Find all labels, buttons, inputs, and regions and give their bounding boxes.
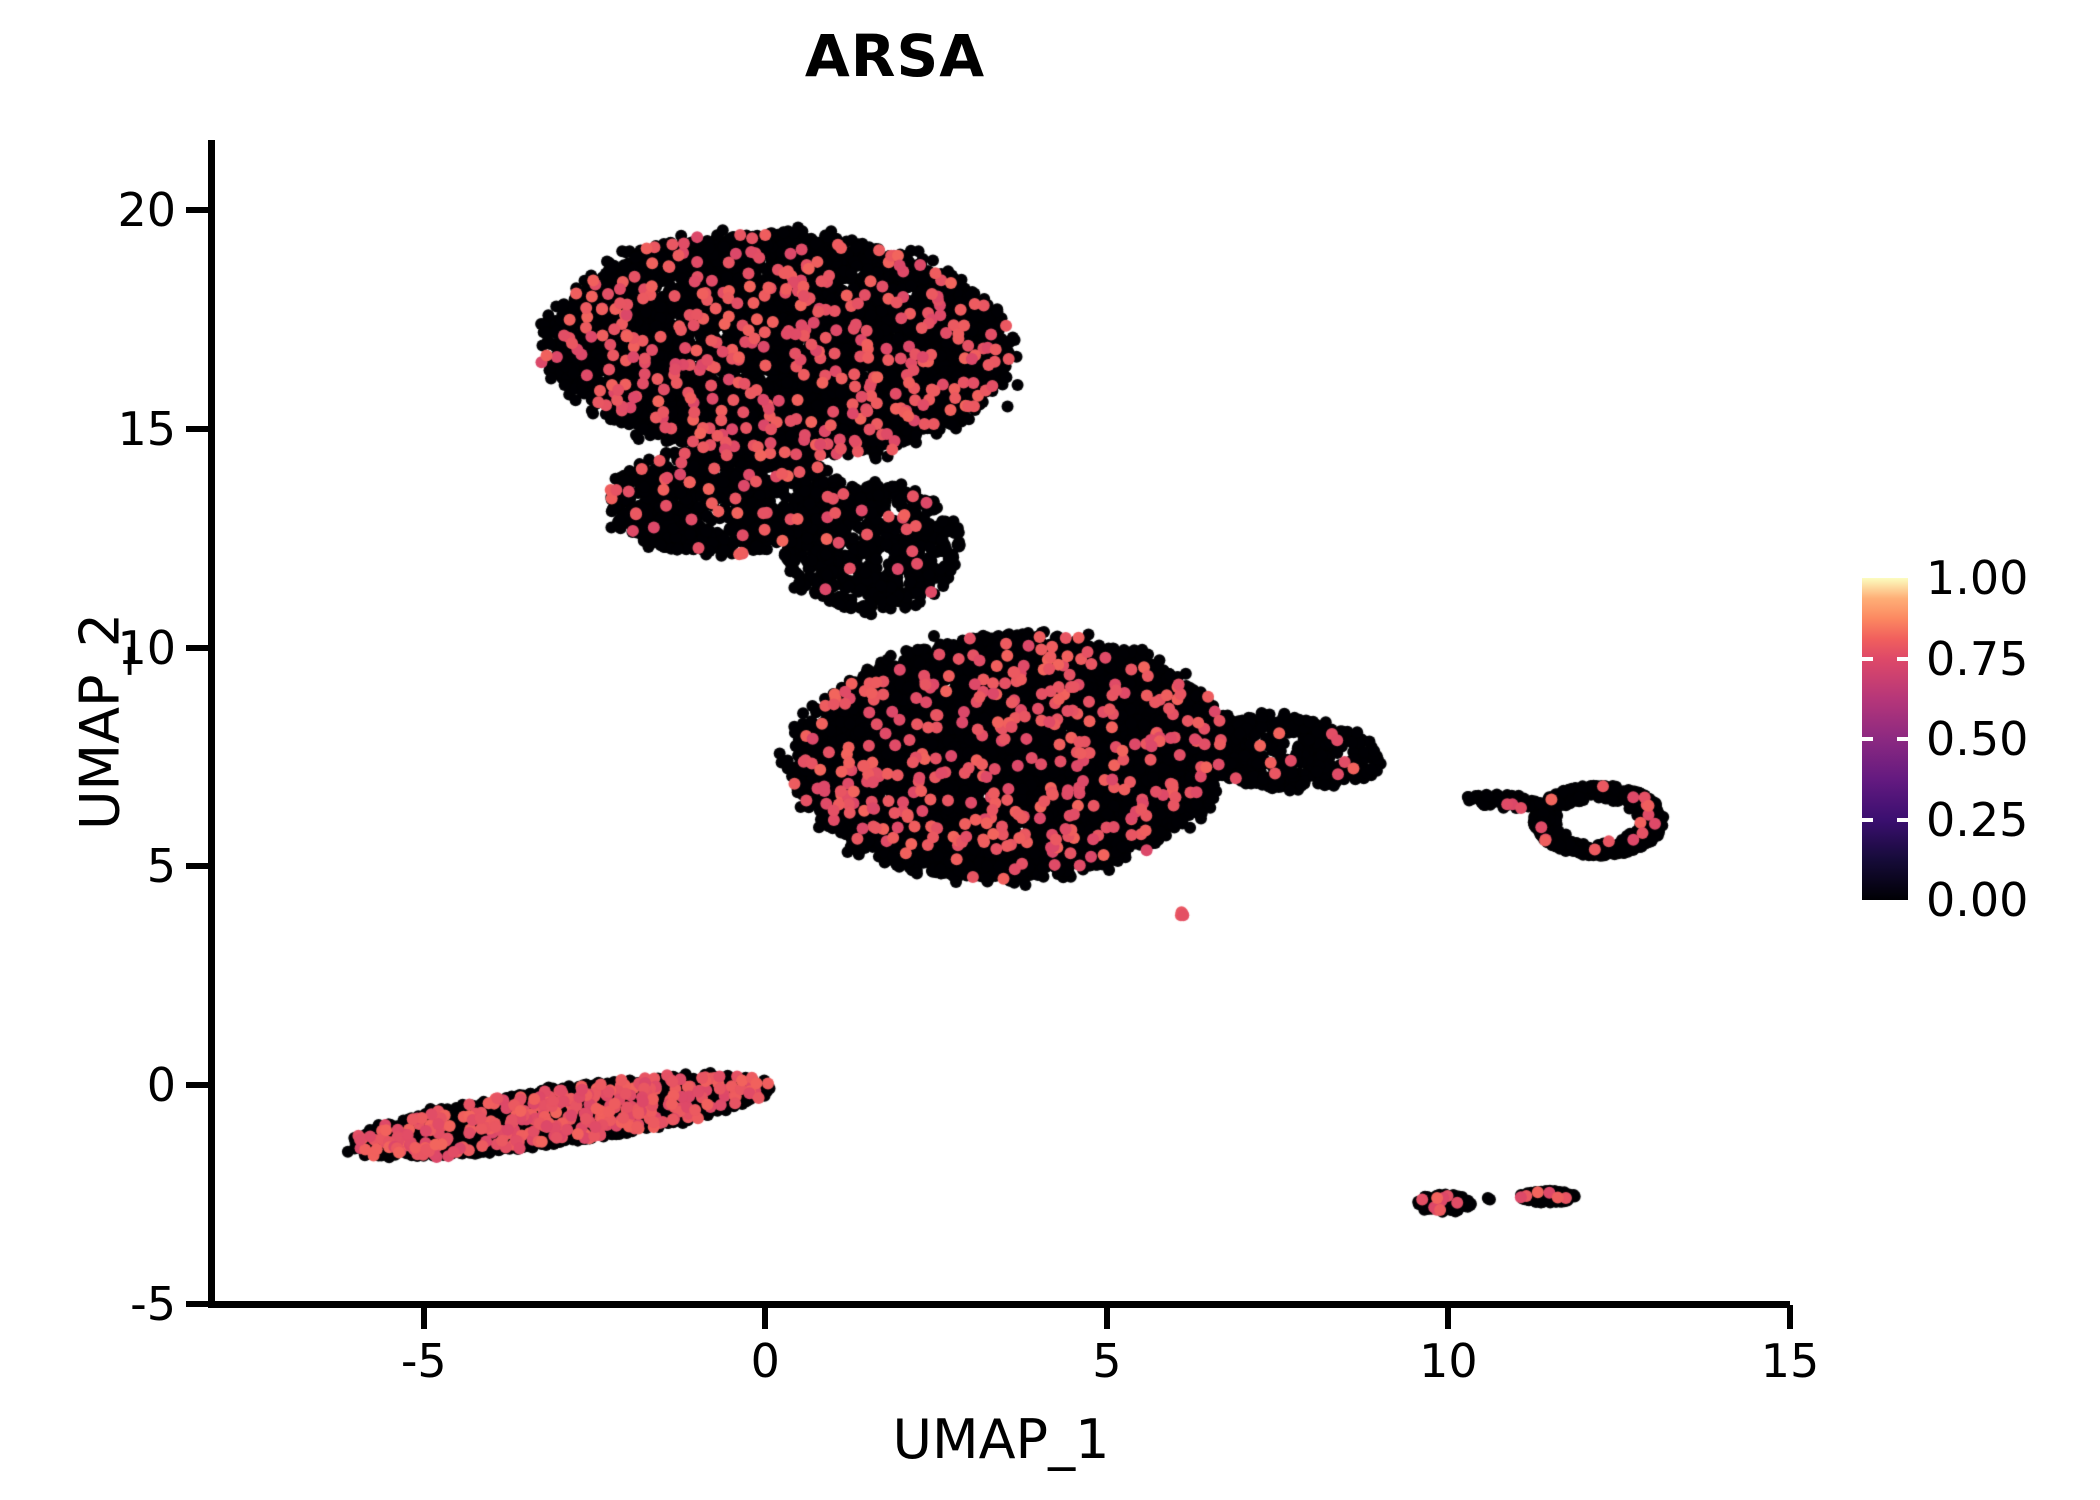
x-tick-label: 15 bbox=[1761, 1338, 1820, 1384]
colorbar-tick-label: 0.50 bbox=[1926, 716, 2028, 762]
colorbar-tick-label: 0.00 bbox=[1926, 877, 2028, 923]
y-tick-label: 5 bbox=[147, 843, 176, 889]
y-tick-label: -5 bbox=[130, 1281, 176, 1327]
x-tick-label: 5 bbox=[1092, 1338, 1121, 1384]
x-tick-label: -5 bbox=[401, 1338, 447, 1384]
x-tick-label: 0 bbox=[751, 1338, 780, 1384]
y-axis-label: UMAP_2 bbox=[69, 140, 132, 1304]
y-tick-mark bbox=[186, 207, 210, 213]
x-tick-mark bbox=[1787, 1305, 1793, 1329]
x-axis-spine bbox=[208, 1301, 1790, 1308]
colorbar-tick-label: 0.25 bbox=[1926, 797, 2028, 843]
x-tick-label: 10 bbox=[1419, 1338, 1478, 1384]
x-axis-label: UMAP_1 bbox=[212, 1408, 1790, 1471]
y-tick-mark bbox=[186, 426, 210, 432]
scatter-plot-area bbox=[212, 140, 1790, 1304]
y-tick-mark bbox=[186, 1082, 210, 1088]
colorbar-tick-label: 1.00 bbox=[1926, 555, 2028, 601]
colorbar-tick-mark bbox=[1862, 818, 1908, 822]
x-tick-mark bbox=[762, 1305, 768, 1329]
x-tick-mark bbox=[1445, 1305, 1451, 1329]
y-tick-mark bbox=[186, 645, 210, 651]
y-tick-mark bbox=[186, 863, 210, 869]
colorbar-tick-label: 0.75 bbox=[1926, 636, 2028, 682]
colorbar-tick-mark bbox=[1862, 737, 1908, 741]
y-axis-spine bbox=[208, 140, 215, 1308]
y-tick-label: 0 bbox=[147, 1062, 176, 1108]
page-title: ARSA bbox=[0, 22, 1790, 90]
y-tick-mark bbox=[186, 1301, 210, 1307]
x-tick-mark bbox=[421, 1305, 427, 1329]
x-tick-mark bbox=[1104, 1305, 1110, 1329]
colorbar: 1.000.750.500.250.00 bbox=[1862, 578, 2092, 900]
figure-canvas: ARSA -505101520 -5051015 UMAP_1 UMAP_2 1… bbox=[0, 0, 2100, 1500]
colorbar-tick-mark bbox=[1862, 657, 1908, 661]
